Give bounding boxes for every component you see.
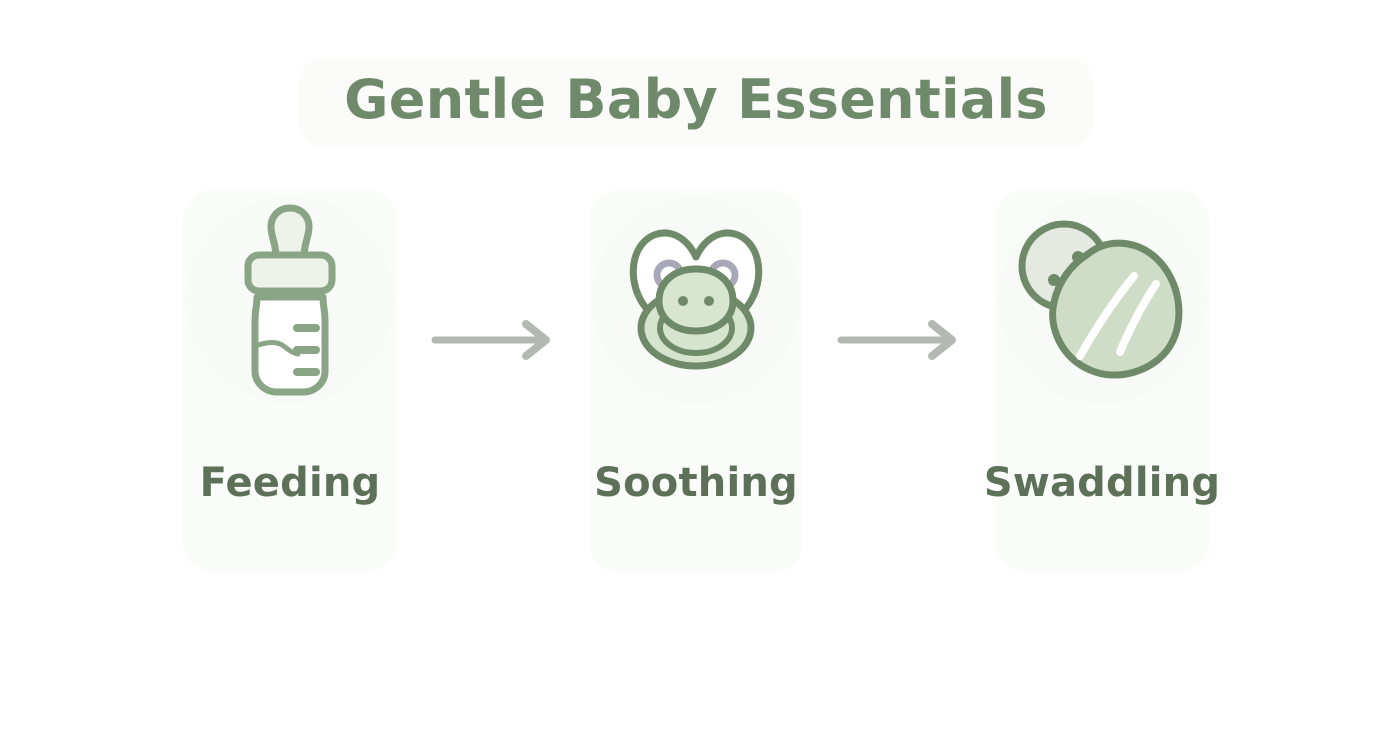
page-title-container: Gentle Baby Essentials [0, 58, 1392, 147]
pacifier-icon [601, 205, 791, 395]
step-feeding[interactable]: Feeding [155, 196, 425, 506]
connector-2 [831, 196, 967, 362]
page-title: Gentle Baby Essentials [344, 72, 1048, 129]
icon-disc [186, 196, 394, 404]
steps-row: Feeding [0, 196, 1392, 556]
step-label-swaddling: Swaddling [984, 460, 1220, 506]
baby-bottle-icon [205, 195, 375, 405]
arrow-right-icon [430, 318, 556, 362]
title-card: Gentle Baby Essentials [298, 58, 1094, 147]
infographic-canvas: Gentle Baby Essentials [0, 0, 1392, 752]
connector-1 [425, 196, 561, 362]
step-label-feeding: Feeding [200, 460, 381, 506]
step-soothing[interactable]: Soothing [561, 196, 831, 506]
icon-disc [998, 196, 1206, 404]
step-swaddling[interactable]: Swaddling [967, 196, 1237, 506]
swaddled-baby-icon [1004, 210, 1200, 390]
step-label-soothing: Soothing [594, 460, 798, 506]
arrow-right-icon [836, 318, 962, 362]
icon-disc [592, 196, 800, 404]
